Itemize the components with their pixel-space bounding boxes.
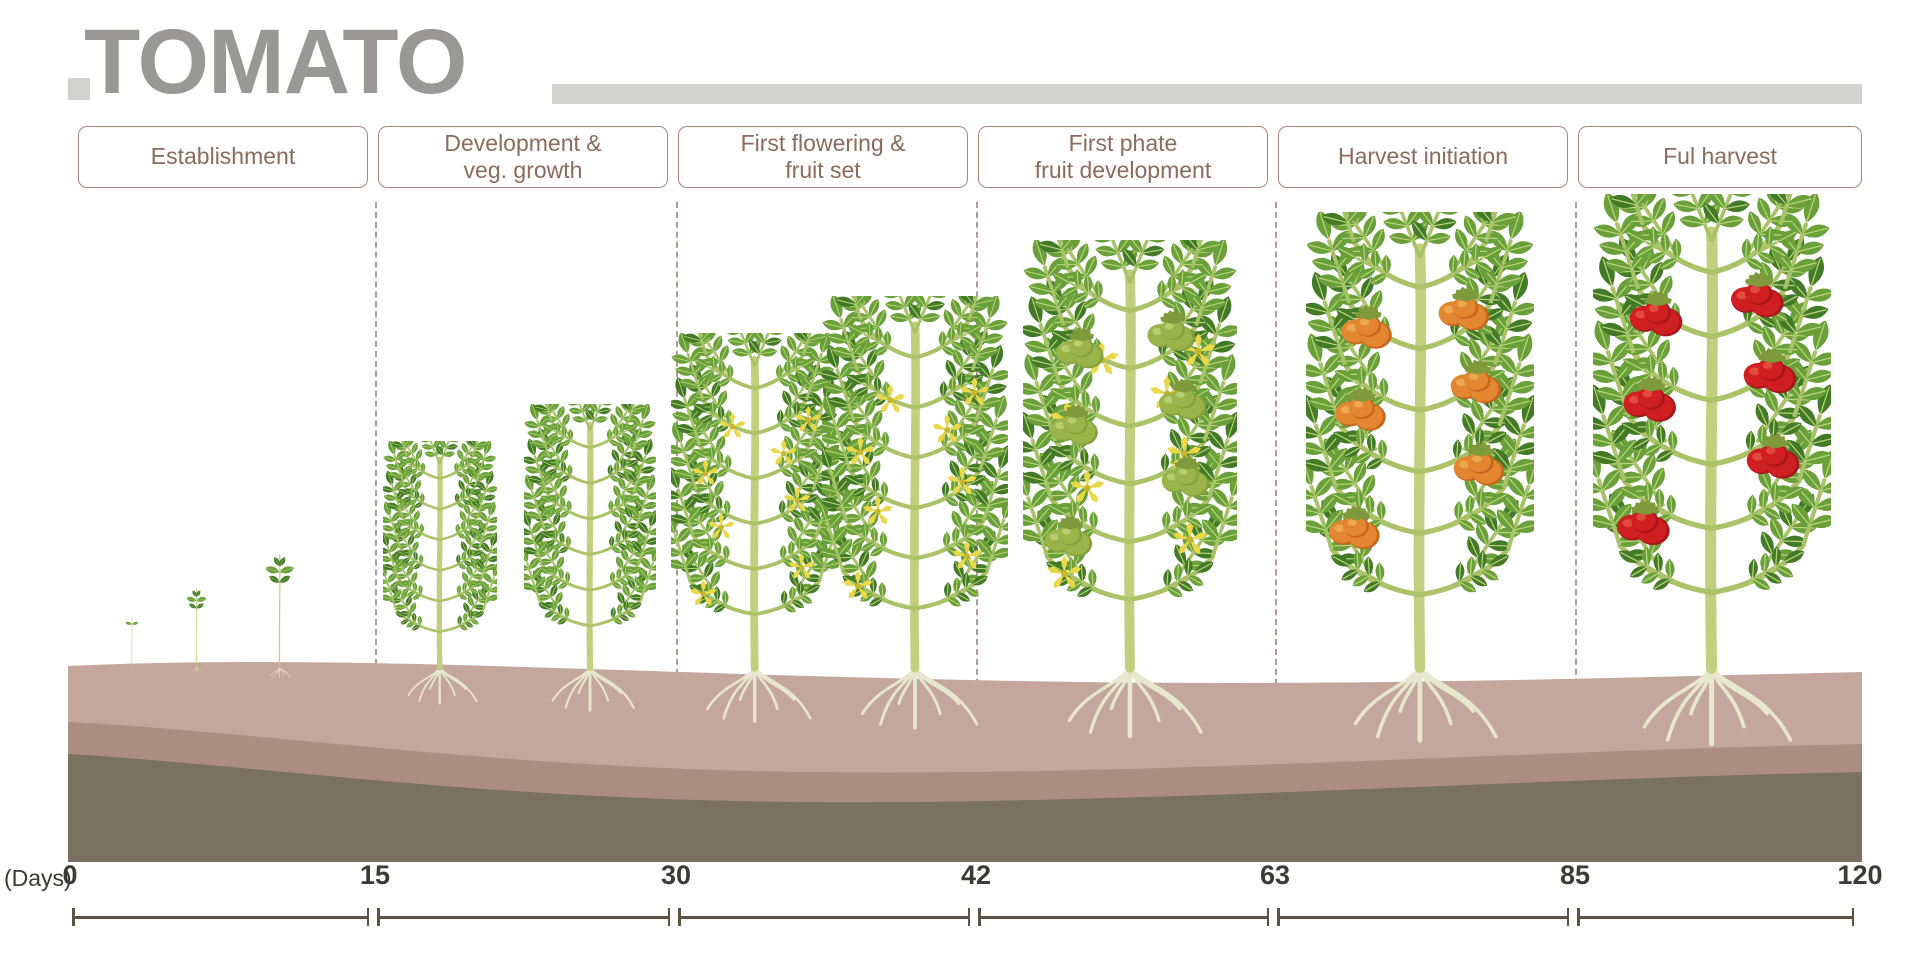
plant-illustration — [1023, 240, 1237, 768]
plant-illustration — [524, 404, 656, 730]
axis-segment-85-120 — [1577, 908, 1854, 926]
plant-illustration — [1306, 212, 1534, 774]
axis-tick-30: 30 — [661, 860, 691, 891]
axis-tick-120: 120 — [1837, 860, 1882, 891]
plant-young-plant-a — [383, 441, 496, 721]
plant-young-plant-b — [524, 404, 656, 730]
axis-segment-bar — [1277, 916, 1569, 919]
plant-seedling-small — [175, 582, 218, 688]
axis-segment-bar — [1577, 916, 1854, 919]
growth-stage-infographic: TOMATO EstablishmentDevelopment &veg. gr… — [0, 0, 1918, 976]
axis-segment-bar — [678, 916, 970, 919]
plant-illustration — [383, 441, 496, 721]
axis-cap-left — [72, 908, 75, 926]
axis-segment-63-85 — [1277, 908, 1569, 926]
plant-ripe-harvest-plant — [1593, 194, 1830, 779]
axis-tick-42: 42 — [961, 860, 991, 891]
axis-segment-bar — [377, 916, 670, 919]
axis-cap-left — [1577, 908, 1580, 926]
axis-cap-right — [668, 908, 671, 926]
axis-cap-left — [678, 908, 681, 926]
plant-green-fruit-plant — [1023, 240, 1237, 768]
axis-cap-right — [1852, 908, 1855, 926]
axis-cap-right — [968, 908, 971, 926]
plant-group — [0, 0, 1918, 716]
axis-segment-0-15 — [72, 908, 369, 926]
axis-segment-15-30 — [377, 908, 670, 926]
plant-illustration — [175, 582, 218, 688]
plant-illustration — [671, 333, 838, 746]
plant-seedling-cotyledon — [118, 612, 146, 681]
axis-cap-right — [1567, 908, 1570, 926]
axis-tick-15: 15 — [360, 860, 390, 891]
axis-tick-0: 0 — [62, 860, 77, 891]
plant-flowering-plant-b — [822, 296, 1008, 755]
plant-flowering-plant-a — [671, 333, 838, 746]
plant-illustration — [249, 545, 310, 696]
axis-tick-63: 63 — [1260, 860, 1290, 891]
plant-ripening-plant — [1306, 212, 1534, 774]
axis-tick-85: 85 — [1560, 860, 1590, 891]
axis-segment-30-42 — [678, 908, 970, 926]
plant-seedling-transplant — [249, 545, 310, 696]
plant-illustration — [118, 612, 146, 681]
axis-cap-right — [367, 908, 370, 926]
axis-segment-bar — [978, 916, 1269, 919]
axis-cap-right — [1267, 908, 1270, 926]
axis-segment-bar — [72, 916, 369, 919]
axis-cap-left — [377, 908, 380, 926]
axis-segment-42-63 — [978, 908, 1269, 926]
plant-illustration — [822, 296, 1008, 755]
axis-cap-left — [1277, 908, 1280, 926]
axis-cap-left — [978, 908, 981, 926]
plant-illustration — [1593, 194, 1830, 779]
